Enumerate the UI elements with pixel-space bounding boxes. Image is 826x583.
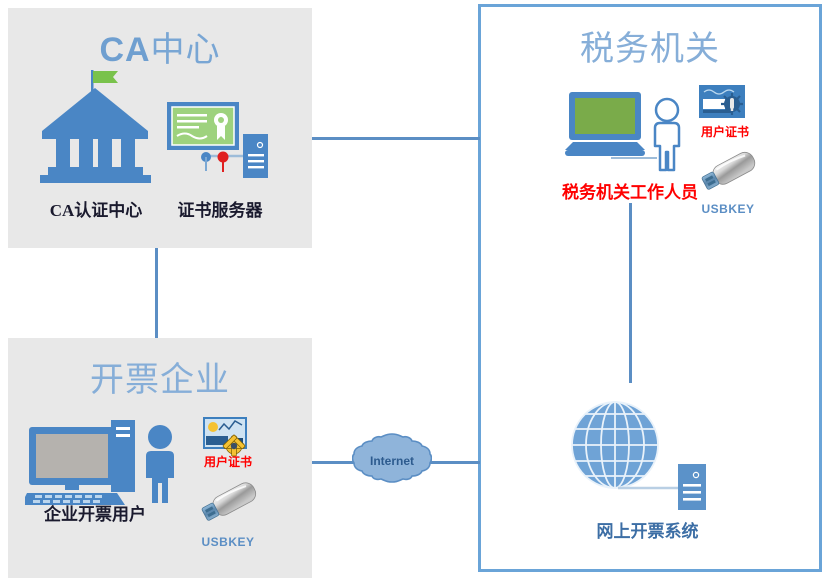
node-enterprise-user[interactable] xyxy=(25,415,185,505)
node-internet-cloud[interactable]: Internet xyxy=(352,430,432,492)
node-online-invoice-system-label: 网上开票系统 xyxy=(560,517,735,542)
connector-ca-to-enterprise xyxy=(155,248,158,338)
panel-ca-center-title: CA中心 xyxy=(8,22,312,71)
desktop-person-icon xyxy=(25,415,185,505)
usb-key-icon xyxy=(693,145,765,199)
connector-enterprise-to-internet xyxy=(312,461,357,464)
user-certificate-icon xyxy=(202,416,252,458)
connector-ca-to-tax xyxy=(312,137,480,140)
node-enterprise-usbkey-label: USBKEY xyxy=(188,535,268,549)
node-tax-user-cert-label: 用户证书 xyxy=(690,123,760,140)
usb-key-icon xyxy=(192,475,267,531)
node-tax-user-cert[interactable] xyxy=(698,84,750,126)
globe-server-icon xyxy=(570,400,710,510)
node-tax-usbkey-label: USBKEY xyxy=(688,202,768,216)
bank-building-icon xyxy=(38,68,153,183)
connector-internet-to-tax xyxy=(425,461,480,464)
panel-invoicing-enterprise-title: 开票企业 xyxy=(8,352,312,401)
panel-ca-center-title-prefix: CA xyxy=(99,31,150,69)
node-tax-staff[interactable] xyxy=(565,88,690,178)
panel-tax-authority-title: 税务机关 xyxy=(481,21,819,70)
node-internet-cloud-label: Internet xyxy=(352,454,432,468)
connector-staff-to-system xyxy=(629,203,632,383)
node-enterprise-user-label: 企业开票用户 xyxy=(10,500,180,525)
node-tax-usbkey[interactable] xyxy=(693,145,765,199)
node-enterprise-user-cert-label: 用户证书 xyxy=(190,453,266,470)
node-enterprise-usbkey[interactable] xyxy=(192,475,267,531)
network-topology-diagram: CA中心 CA认证中心 xyxy=(0,0,826,583)
node-cert-server-label: 证书服务器 xyxy=(146,196,294,221)
panel-ca-center-title-suffix: 中心 xyxy=(151,31,221,69)
node-enterprise-user-cert[interactable] xyxy=(202,416,252,458)
user-certificate-icon xyxy=(698,84,750,126)
node-online-invoice-system[interactable] xyxy=(570,400,710,510)
node-cert-server[interactable] xyxy=(165,100,270,180)
node-ca-auth-center[interactable] xyxy=(38,68,153,183)
laptop-person-icon xyxy=(565,88,690,178)
certificate-server-icon xyxy=(165,100,270,180)
